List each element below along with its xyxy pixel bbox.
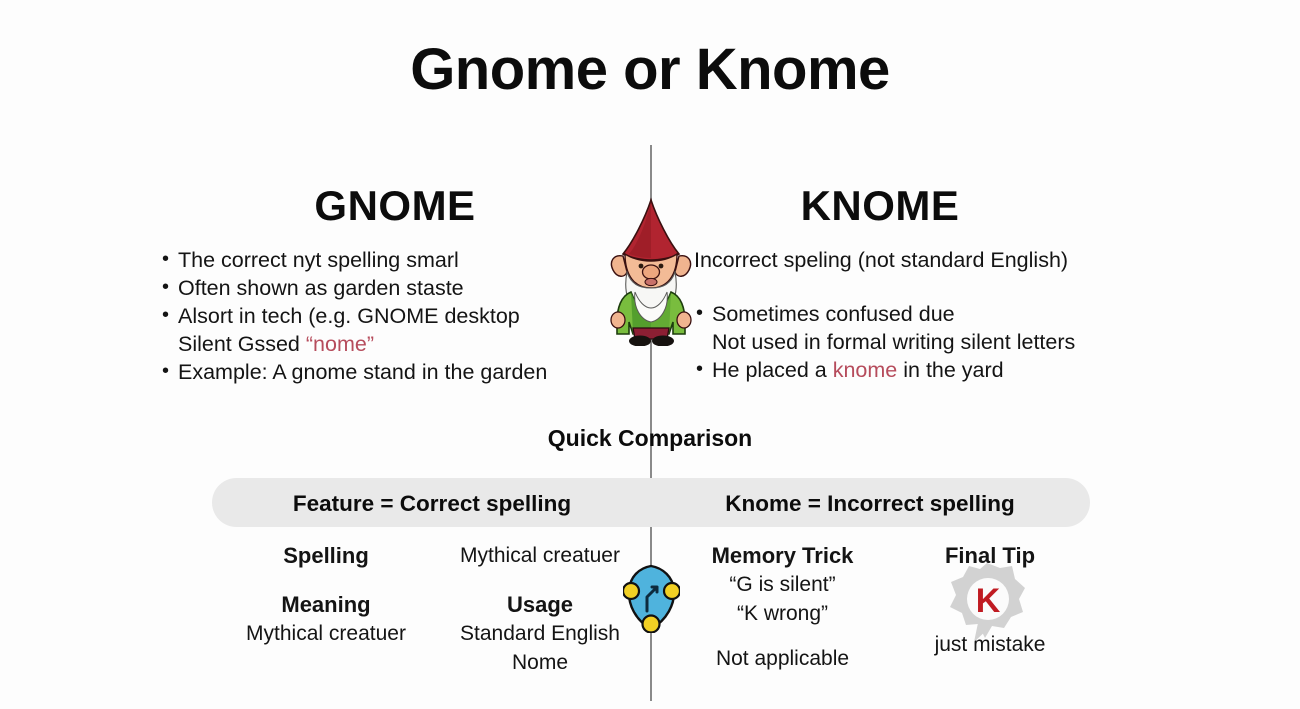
table-cell: Standard English: [430, 619, 650, 648]
highlighted-misspelling: “nome”: [306, 332, 374, 356]
right-column-bullets: Incorrect speling (not standard English)…: [694, 246, 1134, 384]
table-cell: “K wrong”: [665, 599, 900, 628]
list-item-text: Silent Gssed: [178, 332, 306, 356]
table-cell: Nome: [430, 648, 650, 677]
spacer: [215, 570, 437, 590]
garden-gnome-illustration: [599, 196, 703, 346]
table-cell: Memory Trick: [665, 541, 900, 570]
spacer: [430, 570, 650, 590]
k-badge-icon: K: [944, 560, 1030, 644]
list-item: Sometimes confused due: [694, 300, 1134, 328]
page-title: Gnome or Knome: [0, 36, 1300, 103]
list-item-continuation: Silent Gssed “nome”: [160, 330, 630, 358]
left-column-heading: GNOME: [170, 182, 620, 230]
list-item-text-tail: in the yard: [897, 358, 1003, 382]
comparison-section-title: Quick Comparison: [0, 425, 1300, 452]
list-item: Alsort in tech (e.g. GNOME desktop: [160, 302, 630, 330]
comparison-header-left: Feature = Correct spelling: [222, 491, 642, 517]
slide-canvas: Gnome or Knome GNOME The correct nyt spe…: [0, 0, 1300, 709]
list-item-text: He placed a: [712, 358, 833, 382]
k-badge-letter: K: [976, 582, 1001, 620]
table-cell: Spelling: [215, 541, 437, 570]
comparison-column-1: Spelling Meaning Mythical creatuer: [215, 541, 437, 648]
table-cell: Mythical creatuer: [430, 541, 650, 570]
table-cell: Meaning: [215, 590, 437, 619]
comparison-column-2: Mythical creatuer Usage Standard English…: [430, 541, 650, 677]
list-item: Often shown as garden staste: [160, 274, 630, 302]
comparison-column-3: Memory Trick “G is silent” “K wrong” Not…: [665, 541, 900, 673]
right-column-heading: KNOME: [690, 182, 1070, 230]
subtitle-text: Incorrect speling (not standard English): [694, 246, 1134, 274]
list-item: Example: A gnome stand in the garden: [160, 358, 630, 386]
spacer: [665, 628, 900, 644]
table-cell: “G is silent”: [665, 570, 900, 599]
list-item: He placed a knome in the yard: [694, 356, 1134, 384]
comparison-header-right: Knome = Incorrect spelling: [660, 491, 1080, 517]
left-column-bullets: The correct nyt spelling smarl Often sho…: [160, 246, 630, 386]
table-cell: Mythical creatuer: [215, 619, 437, 648]
table-cell: Usage: [430, 590, 650, 619]
highlighted-misspelling: knome: [833, 358, 898, 382]
list-item-continuation: Not used in formal writing silent letter…: [694, 328, 1134, 356]
spacer: [694, 274, 1134, 300]
table-cell: Not applicable: [665, 644, 900, 673]
node-graph-icon: [623, 563, 680, 633]
list-item: The correct nyt spelling smarl: [160, 246, 630, 274]
